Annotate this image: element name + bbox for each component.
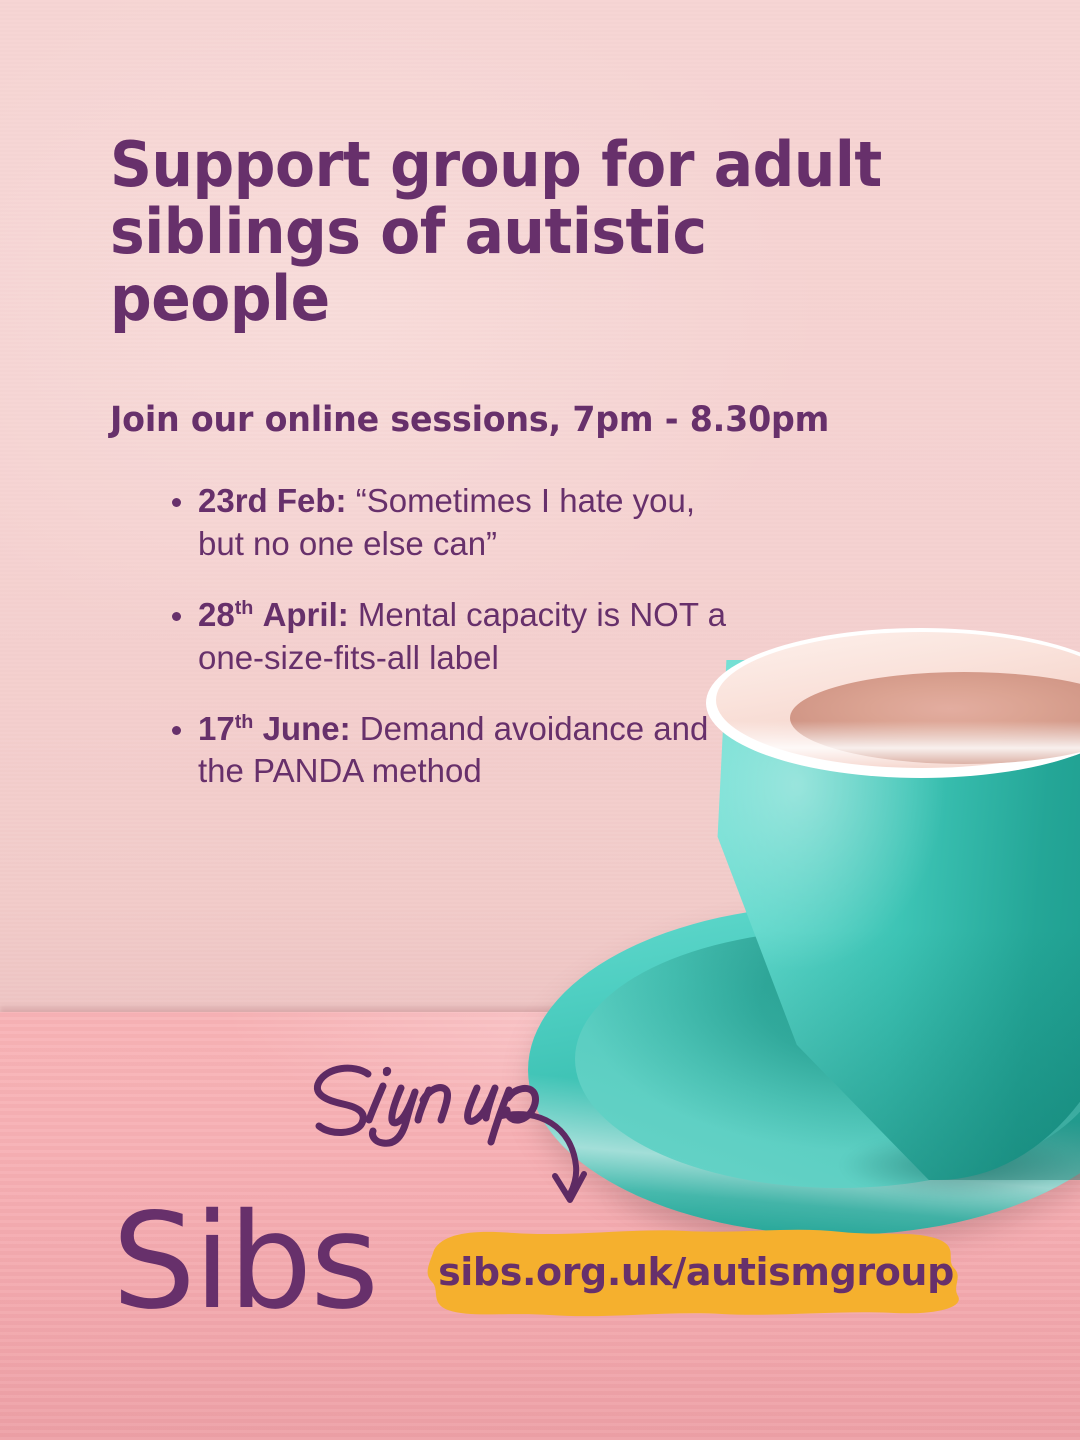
sibs-logo: Sibs <box>112 1196 377 1328</box>
session-date: 17th June: <box>198 710 351 747</box>
signup-url-text[interactable]: sibs.org.uk/autismgroup <box>418 1216 974 1328</box>
poster-canvas: Support group for adultsiblings of autis… <box>0 0 1080 1440</box>
session-list: 23rd Feb: “Sometimes I hate you, but no … <box>168 480 728 821</box>
headline-line-2: siblings of autistic people <box>110 195 707 335</box>
list-item: 17th June: Demand avoidance and the PAND… <box>168 708 728 794</box>
list-item: 28th April: Mental capacity is NOT a one… <box>168 594 728 680</box>
date-ordinal-suffix: th <box>235 597 254 619</box>
date-ordinal-suffix: th <box>235 711 254 733</box>
poster-content: Support group for adultsiblings of autis… <box>0 0 1080 1440</box>
session-date: 23rd Feb: <box>198 482 347 519</box>
subheading: Join our online sessions, 7pm - 8.30pm <box>110 400 965 440</box>
headline-line-1: Support group for adult <box>110 128 882 201</box>
signup-url-badge[interactable]: sibs.org.uk/autismgroup <box>418 1216 974 1328</box>
curved-arrow-icon <box>500 1110 610 1215</box>
session-date: 28th April: <box>198 596 349 633</box>
list-item: 23rd Feb: “Sometimes I hate you, but no … <box>168 480 728 566</box>
page-title: Support group for adultsiblings of autis… <box>110 132 937 333</box>
